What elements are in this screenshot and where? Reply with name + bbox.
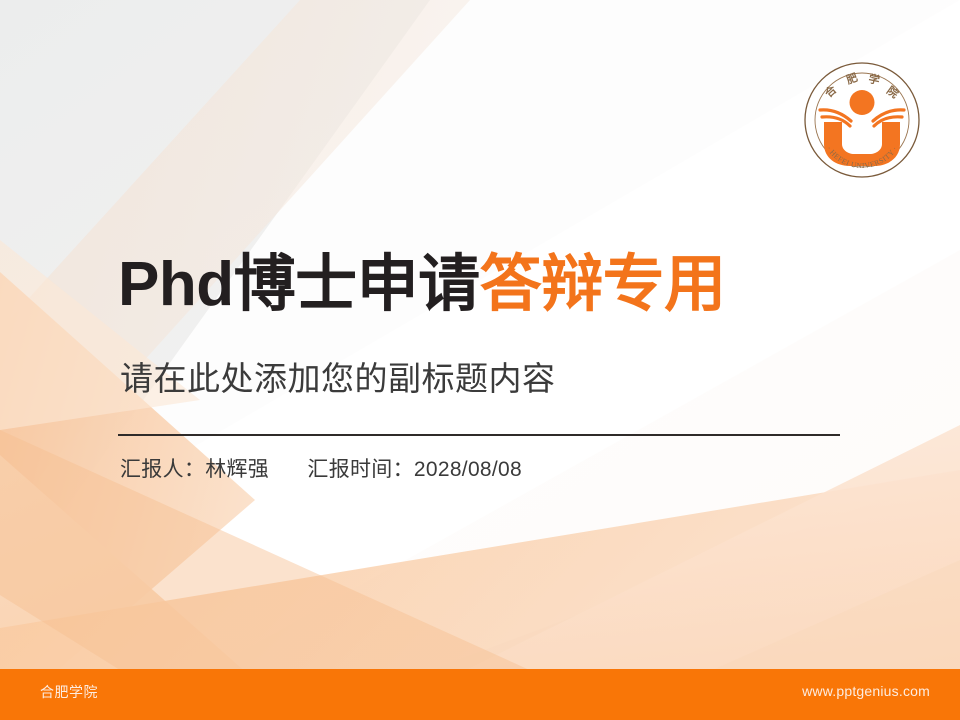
- title-divider-rule: [118, 434, 840, 436]
- presenter-label: 汇报人：林辉强: [120, 458, 269, 481]
- date-label: 汇报时间：2028/08/08: [307, 458, 522, 481]
- presentation-slide: 合 肥 学 院 · HEFEI UNIVERSITY · Phd博士申请答辩专用…: [0, 0, 960, 720]
- hefei-university-logo-icon: 合 肥 学 院 · HEFEI UNIVERSITY ·: [802, 60, 922, 180]
- slide-footer-bar: 合肥学院 www.pptgenius.com: [0, 669, 960, 720]
- slide-meta-line: 汇报人：林辉强 汇报时间：2028/08/08: [120, 453, 522, 483]
- footer-website-link[interactable]: www.pptgenius.com: [802, 683, 930, 699]
- title-accent-text: 答辩专用: [480, 250, 726, 319]
- slide-title: Phd博士申请答辩专用: [118, 252, 726, 319]
- footer-institution-label: 合肥学院: [40, 682, 98, 702]
- slide-subtitle: 请在此处添加您的副标题内容: [120, 352, 556, 400]
- title-primary-text: Phd博士申请: [118, 250, 480, 319]
